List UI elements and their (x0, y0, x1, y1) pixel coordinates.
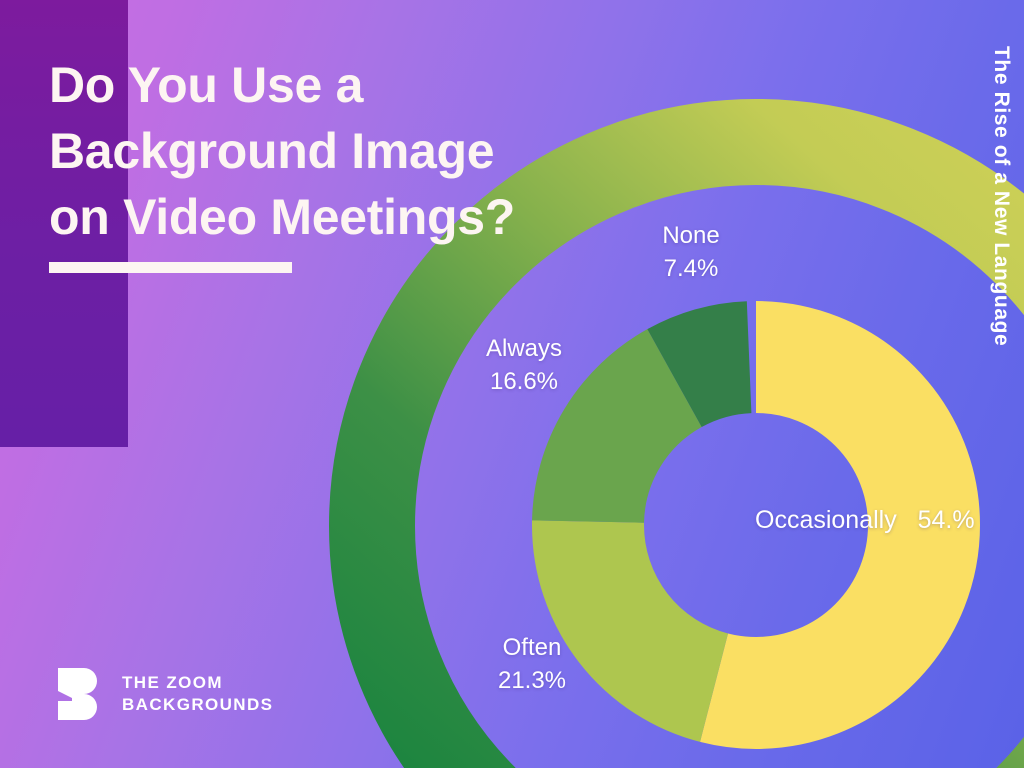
chart-label-often: Often 21.3% (452, 631, 612, 697)
chart-label-occasionally: Occasionally 54.% (755, 503, 1015, 538)
brand-wordmark: THE ZOOM BACKGROUNDS (122, 672, 273, 716)
chart-label-always: Always 16.6% (444, 332, 604, 398)
title-line-2: Background Image (49, 118, 649, 184)
chart-label-none-name: None (611, 219, 771, 252)
chart-label-always-name: Always (444, 332, 604, 365)
brand-line-2: BACKGROUNDS (122, 694, 273, 716)
side-caption: The Rise of a New Language (984, 46, 1018, 446)
infographic-canvas: Do You Use a Background Image on Video M… (0, 0, 1024, 768)
chart-label-often-name: Often (452, 631, 612, 664)
brand-logo: THE ZOOM BACKGROUNDS (58, 668, 273, 720)
title-line-1: Do You Use a (49, 52, 649, 118)
brand-line-1: THE ZOOM (122, 672, 273, 694)
chart-label-always-value: 16.6% (444, 365, 604, 398)
b-logo-mark-icon (58, 668, 104, 720)
chart-label-occasionally-name: Occasionally (755, 506, 897, 534)
chart-label-none: None 7.4% (611, 219, 771, 285)
title-underline-rule (49, 262, 292, 273)
chart-label-often-value: 21.3% (452, 664, 612, 697)
chart-label-occasionally-value: 54.% (918, 506, 975, 534)
page-title: Do You Use a Background Image on Video M… (49, 52, 649, 273)
side-caption-text: The Rise of a New Language (989, 46, 1013, 346)
title-line-3: on Video Meetings? (49, 184, 649, 250)
chart-label-none-value: 7.4% (611, 252, 771, 285)
